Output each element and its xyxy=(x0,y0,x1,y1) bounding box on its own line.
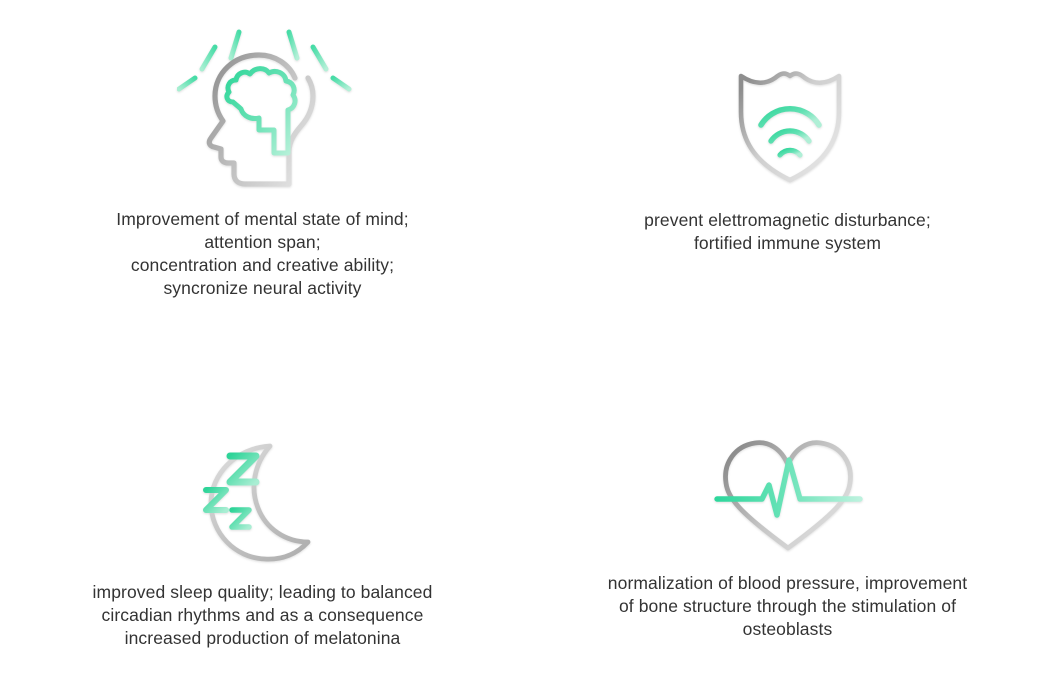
shield-outline xyxy=(741,74,839,180)
card-caption: Improvement of mental state of mind; att… xyxy=(53,208,473,300)
card-mental-state: Improvement of mental state of mind; att… xyxy=(0,0,525,350)
heart-pulse-icon xyxy=(701,436,876,556)
brain-head-icon xyxy=(177,22,352,192)
card-caption: normalization of blood pressure, improve… xyxy=(573,572,1003,641)
card-caption: improved sleep quality; leading to balan… xyxy=(48,581,478,650)
card-sleep-quality: improved sleep quality; leading to balan… xyxy=(0,350,525,700)
signal-arcs xyxy=(761,109,819,155)
moon-sleep-icon xyxy=(194,438,329,563)
benefits-infographic: Improvement of mental state of mind; att… xyxy=(0,0,1050,700)
card-caption: prevent elettromagnetic disturbance; for… xyxy=(578,209,998,255)
card-blood-pressure: normalization of blood pressure, improve… xyxy=(525,350,1050,700)
shield-signal-icon xyxy=(725,62,855,187)
crescent-moon xyxy=(211,446,308,559)
card-electromagnetic-protection: prevent elettromagnetic disturbance; for… xyxy=(525,0,1050,350)
brain-outline xyxy=(227,69,295,153)
